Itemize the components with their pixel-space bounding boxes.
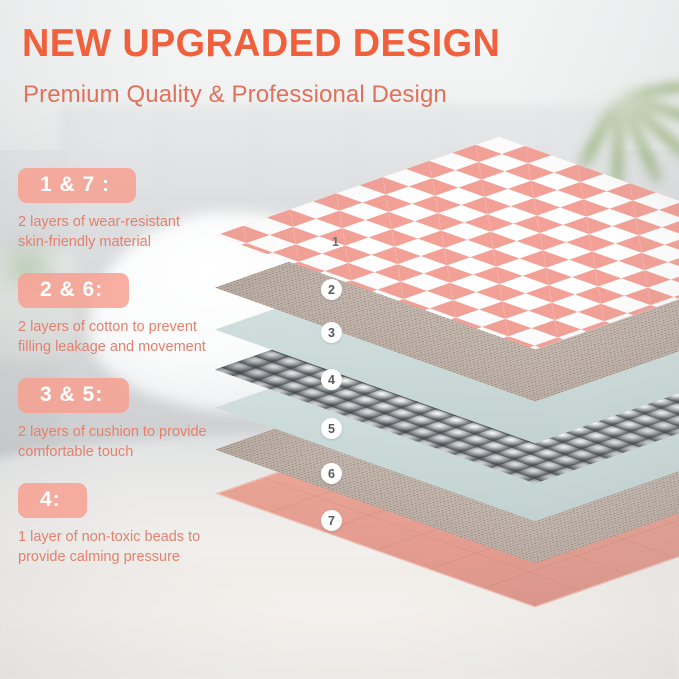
feature-block-2: 2 & 6: 2 layers of cotton to prevent fil… [18, 273, 206, 357]
feature-badge-3: 3 & 5: [18, 378, 129, 413]
layer-number-6: 6 [321, 463, 342, 484]
feature-text-2: 2 layers of cotton to prevent filling le… [18, 317, 206, 357]
feature-block-4: 4: 1 layer of non-toxic beads to provide… [18, 483, 200, 567]
page-subtitle: Premium Quality & Professional Design [23, 81, 447, 109]
layer-number-5: 5 [321, 418, 342, 439]
feature-block-1: 1 & 7 : 2 layers of wear-resistant skin-… [18, 168, 180, 252]
feature-badge-1: 1 & 7 : [18, 168, 136, 203]
layer-number-7: 7 [321, 510, 342, 531]
feature-badge-2: 2 & 6: [18, 273, 129, 308]
feature-text-3: 2 layers of cushion to provide comfortab… [18, 422, 207, 462]
feature-text-1: 2 layers of wear-resistant skin-friendly… [18, 212, 180, 252]
layer-number-1: 1 [325, 231, 346, 252]
feature-block-3: 3 & 5: 2 layers of cushion to provide co… [18, 378, 207, 462]
infographic-canvas: 1 2 3 4 5 6 7 NEW UPGRADED DESIGN Premiu… [0, 0, 679, 679]
page-title: NEW UPGRADED DESIGN [22, 22, 500, 66]
layer-number-3: 3 [321, 322, 342, 343]
layer-number-4: 4 [321, 369, 342, 390]
layer-number-2: 2 [321, 279, 342, 300]
feature-badge-4: 4: [18, 483, 87, 518]
feature-text-4: 1 layer of non-toxic beads to provide ca… [18, 527, 200, 567]
